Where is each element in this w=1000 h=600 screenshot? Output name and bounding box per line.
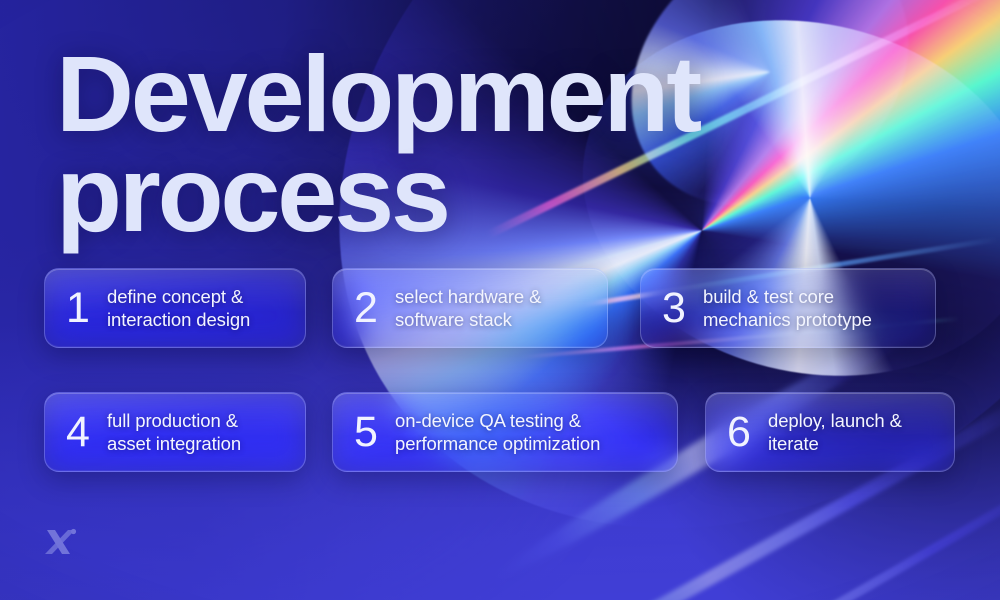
step-label-1: define concept & interaction design [107, 285, 250, 332]
step-number-6: 6 [726, 411, 752, 454]
step-number-2: 2 [353, 287, 379, 330]
step-card-4[interactable]: 4 full production & asset integration [44, 392, 306, 472]
step-card-2[interactable]: 2 select hardware & software stack [332, 268, 608, 348]
step-label-5: on-device QA testing & performance optim… [395, 409, 600, 456]
step-card-6[interactable]: 6 deploy, launch & iterate [705, 392, 955, 472]
step-number-4: 4 [65, 411, 91, 454]
step-number-1: 1 [65, 287, 91, 330]
step-card-5[interactable]: 5 on-device QA testing & performance opt… [332, 392, 678, 472]
step-label-3: build & test core mechanics prototype [703, 285, 872, 332]
x-logo-watermark-icon [44, 526, 78, 558]
step-label-4: full production & asset integration [107, 409, 241, 456]
poster-canvas: Development process 1 define concept & i… [0, 0, 1000, 600]
step-card-3[interactable]: 3 build & test core mechanics prototype [640, 268, 936, 348]
step-label-2: select hardware & software stack [395, 285, 541, 332]
step-number-5: 5 [353, 411, 379, 454]
step-label-6: deploy, launch & iterate [768, 409, 902, 456]
step-card-1[interactable]: 1 define concept & interaction design [44, 268, 306, 348]
steps-grid: 1 define concept & interaction design 2 … [0, 0, 1000, 600]
step-number-3: 3 [661, 287, 687, 330]
